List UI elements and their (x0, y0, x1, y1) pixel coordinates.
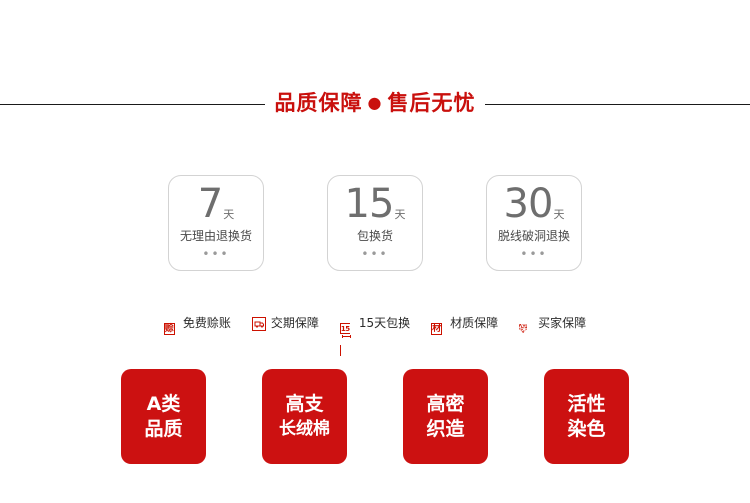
service-badge-label: 免费赊账 (183, 316, 231, 330)
fifteen-day-exchange-icon: 15 (340, 316, 354, 330)
service-badge[interactable]: 赊 免费赊账 (164, 316, 231, 330)
day-card-dots: ••• (202, 249, 229, 259)
day-number: 15 (345, 185, 394, 223)
feature-card-list: A类 品质 高支 长绒棉 高密 织造 活性 染色 (0, 369, 750, 464)
day-number: 7 (198, 185, 222, 223)
day-unit-label: 天 (222, 209, 234, 223)
day-card-label: 脱线破洞退换 (498, 229, 570, 243)
service-badge[interactable]: 交期保障 (252, 316, 319, 330)
delivery-truck-icon-svg (252, 317, 266, 331)
service-badge-label: 交期保障 (271, 316, 319, 330)
service-badge-label: 材质保障 (450, 316, 498, 330)
promo-banner-page: 品质保障●售后无忧 7 天 无理由退换货 ••• 15 天 包换货 ••• 30… (0, 0, 750, 503)
feature-card-line-1: 高密 (426, 392, 464, 417)
section-title-bar: 品质保障●售后无忧 (0, 88, 750, 120)
service-badge-label: 买家保障 (538, 316, 586, 330)
page-title: 品质保障●售后无忧 (265, 91, 486, 117)
page-title-sub: 售后无忧 (387, 91, 475, 115)
day-unit-label: 天 (393, 209, 405, 223)
material-icon-glyph: 材 (431, 323, 442, 335)
feature-card[interactable]: 活性 染色 (544, 369, 629, 464)
title-rule-right (485, 104, 750, 105)
page-title-main: 品质保障 (275, 91, 363, 115)
day-guarantee-card-list: 7 天 无理由退换货 ••• 15 天 包换货 ••• 30 天 脱线破洞退换 … (0, 175, 750, 271)
feature-card-line-2: 品质 (144, 417, 182, 442)
day-card-label: 无理由退换货 (180, 229, 252, 243)
feature-card-line-2: 染色 (567, 417, 605, 442)
day-number-row: 30 天 (504, 181, 565, 223)
feature-card[interactable]: 高支 长绒棉 (262, 369, 347, 464)
service-badge[interactable]: 材 材质保障 (431, 316, 498, 330)
day-unit-label: 天 (552, 209, 564, 223)
feature-card-line-1: 活性 (567, 392, 605, 417)
service-badge-label: 15天包换 (359, 316, 410, 330)
credit-icon: 赊 (164, 316, 178, 330)
feature-card-line-2: 织造 (426, 417, 464, 442)
service-badge[interactable]: 保 买家保障 (519, 316, 586, 330)
feature-card[interactable]: 高密 织造 (403, 369, 488, 464)
service-badge-list: 赊 免费赊账 交期保障 15 (0, 316, 750, 330)
day-guarantee-card[interactable]: 30 天 脱线破洞退换 ••• (486, 175, 582, 271)
day-guarantee-card[interactable]: 15 天 包换货 ••• (327, 175, 423, 271)
feature-card-line-1: A类 (147, 392, 181, 417)
day-card-label: 包换货 (357, 229, 393, 243)
exchange-arrow-glyph (342, 335, 351, 338)
feature-card[interactable]: A类 品质 (121, 369, 206, 464)
title-separator-dot: ● (368, 91, 383, 115)
feature-card-line-1: 高支 (285, 392, 323, 417)
feature-card-line-2: 长绒棉 (279, 417, 330, 442)
service-badge[interactable]: 15 15天包换 (340, 316, 410, 330)
fifteen-day-exchange-icon-box: 15 (340, 323, 354, 356)
day-number: 30 (504, 185, 553, 223)
buyer-protection-shield-glyph: 保 (519, 324, 527, 333)
day-number-row: 15 天 (345, 181, 406, 223)
fifteen-day-exchange-icon-number: 15 (341, 325, 350, 333)
material-icon: 材 (431, 316, 445, 330)
day-number-row: 7 天 (198, 181, 234, 223)
day-card-dots: ••• (520, 249, 547, 259)
day-card-dots: ••• (361, 249, 388, 259)
delivery-truck-icon (252, 316, 266, 330)
title-rule-left (0, 104, 265, 105)
credit-icon-glyph: 赊 (164, 323, 175, 335)
day-guarantee-card[interactable]: 7 天 无理由退换货 ••• (168, 175, 264, 271)
buyer-protection-shield-icon: 保 (519, 316, 533, 330)
